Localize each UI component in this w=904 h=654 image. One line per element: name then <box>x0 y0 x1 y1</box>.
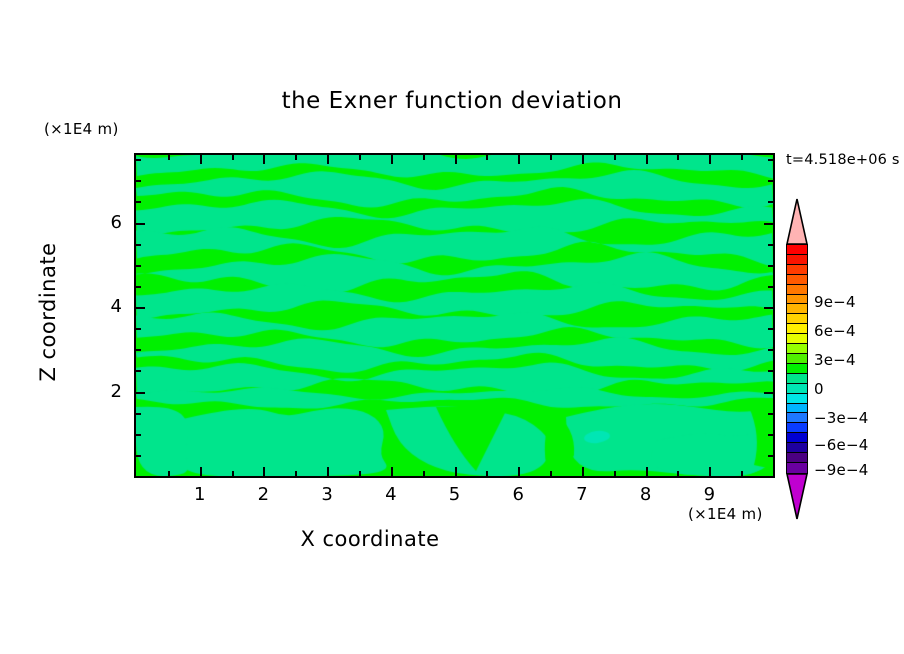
y-tick-label: 6 <box>96 212 122 233</box>
colorbar-band <box>787 334 807 344</box>
x-tick-major <box>391 467 393 476</box>
colorbar-band <box>787 245 807 255</box>
y-tick-minor <box>768 180 773 182</box>
y-tick-minor <box>136 244 141 246</box>
y-tick-major <box>764 223 773 225</box>
x-tick-major <box>582 155 584 164</box>
colorbar-band <box>787 344 807 354</box>
colorbar-band <box>787 413 807 423</box>
y-tick-major <box>136 392 145 394</box>
colorbar-bottom-arrow-icon <box>786 473 808 520</box>
colorbar-band <box>787 275 807 285</box>
y-tick-minor <box>768 370 773 372</box>
x-tick-minor <box>550 155 552 160</box>
x-axis-title: X coordinate <box>0 527 740 551</box>
y-tick-minor <box>136 455 141 457</box>
y-tick-minor <box>136 286 141 288</box>
y-tick-minor <box>136 159 141 161</box>
x-tick-major <box>709 155 711 164</box>
y-tick-minor <box>768 244 773 246</box>
x-tick-minor <box>232 471 234 476</box>
colorbar-tick-label: −6e−4 <box>814 436 868 454</box>
y-tick-minor <box>768 455 773 457</box>
x-tick-major <box>200 155 202 164</box>
colorbar-band <box>787 364 807 374</box>
colorbar-band <box>787 324 807 334</box>
x-tick-minor <box>168 471 170 476</box>
x-tick-label: 3 <box>312 484 342 505</box>
contour-plot-area <box>134 153 775 478</box>
x-tick-label: 5 <box>440 484 470 505</box>
x-tick-minor <box>295 471 297 476</box>
y-tick-minor <box>136 349 141 351</box>
x-tick-major <box>327 155 329 164</box>
x-tick-major <box>709 467 711 476</box>
colorbar-band <box>787 374 807 384</box>
y-tick-major <box>764 307 773 309</box>
x-tick-major <box>263 467 265 476</box>
colorbar-band <box>787 265 807 275</box>
x-tick-minor <box>168 155 170 160</box>
contour-field <box>136 155 773 476</box>
x-tick-minor <box>423 155 425 160</box>
x-tick-label: 9 <box>694 484 724 505</box>
colorbar-band <box>787 295 807 305</box>
x-tick-major <box>455 155 457 164</box>
y-tick-minor <box>136 434 141 436</box>
colorbar-tick-label: −3e−4 <box>814 409 868 427</box>
page-title: the Exner function deviation <box>0 88 904 114</box>
y-tick-major <box>764 392 773 394</box>
x-tick-label: 1 <box>185 484 215 505</box>
x-tick-major <box>646 467 648 476</box>
x-tick-major <box>518 467 520 476</box>
y-tick-major <box>136 307 145 309</box>
x-tick-major <box>518 155 520 164</box>
colorbar-top-arrow-icon <box>786 198 808 245</box>
x-tick-label: 7 <box>567 484 597 505</box>
x-tick-label: 8 <box>631 484 661 505</box>
colorbar-band <box>787 394 807 404</box>
x-tick-minor <box>677 471 679 476</box>
y-tick-minor <box>768 328 773 330</box>
x-tick-minor <box>423 471 425 476</box>
y-tick-minor <box>136 370 141 372</box>
x-tick-minor <box>741 155 743 160</box>
time-stamp-label: t=4.518e+06 s <box>786 152 900 168</box>
x-tick-minor <box>232 155 234 160</box>
x-tick-major <box>200 467 202 476</box>
y-tick-major <box>136 223 145 225</box>
x-tick-major <box>455 467 457 476</box>
colorbar-band <box>787 433 807 443</box>
x-tick-minor <box>359 471 361 476</box>
colorbar-band <box>787 404 807 414</box>
y-tick-minor <box>136 265 141 267</box>
x-tick-major <box>646 155 648 164</box>
x-tick-minor <box>677 155 679 160</box>
colorbar-band <box>787 255 807 265</box>
colorbar-band <box>787 384 807 394</box>
colorbar-band <box>787 423 807 433</box>
x-tick-major <box>582 467 584 476</box>
colorbar-band <box>787 354 807 364</box>
y-tick-minor <box>768 434 773 436</box>
y-axis-title: Z coordinate <box>36 202 60 422</box>
x-tick-minor <box>550 471 552 476</box>
x-tick-minor <box>359 155 361 160</box>
y-tick-minor <box>768 265 773 267</box>
colorbar-band <box>787 453 807 463</box>
colorbar-tick-label: 0 <box>814 380 824 398</box>
x-tick-label: 2 <box>248 484 278 505</box>
y-tick-minor <box>768 413 773 415</box>
colorbar-bands <box>786 244 808 474</box>
x-tick-label: 6 <box>503 484 533 505</box>
x-tick-major <box>263 155 265 164</box>
colorbar: 9e−46e−43e−40−3e−4−6e−4−9e−4 <box>782 196 904 522</box>
y-tick-minor <box>768 159 773 161</box>
colorbar-band <box>787 463 807 473</box>
colorbar-tick-label: 3e−4 <box>814 351 856 369</box>
y-tick-label: 4 <box>96 296 122 317</box>
y-tick-minor <box>136 328 141 330</box>
x-tick-minor <box>614 471 616 476</box>
x-tick-major <box>391 155 393 164</box>
y-tick-minor <box>136 201 141 203</box>
x-tick-label: 4 <box>376 484 406 505</box>
y-tick-minor <box>768 286 773 288</box>
colorbar-band <box>787 314 807 324</box>
x-tick-minor <box>614 155 616 160</box>
colorbar-band <box>787 285 807 295</box>
y-tick-minor <box>136 180 141 182</box>
x-tick-minor <box>741 471 743 476</box>
x-tick-major <box>327 467 329 476</box>
x-tick-minor <box>295 155 297 160</box>
y-tick-minor <box>768 201 773 203</box>
colorbar-band <box>787 304 807 314</box>
colorbar-tick-label: 6e−4 <box>814 322 856 340</box>
y-tick-label: 2 <box>96 381 122 402</box>
colorbar-band <box>787 443 807 453</box>
colorbar-tick-label: −9e−4 <box>814 461 868 479</box>
x-axis-unit-label: (×1E4 m) <box>688 505 763 523</box>
y-tick-minor <box>768 349 773 351</box>
colorbar-tick-label: 9e−4 <box>814 293 856 311</box>
y-tick-minor <box>136 413 141 415</box>
y-axis-unit-label: (×1E4 m) <box>44 120 119 138</box>
x-tick-minor <box>486 155 488 160</box>
x-tick-minor <box>486 471 488 476</box>
